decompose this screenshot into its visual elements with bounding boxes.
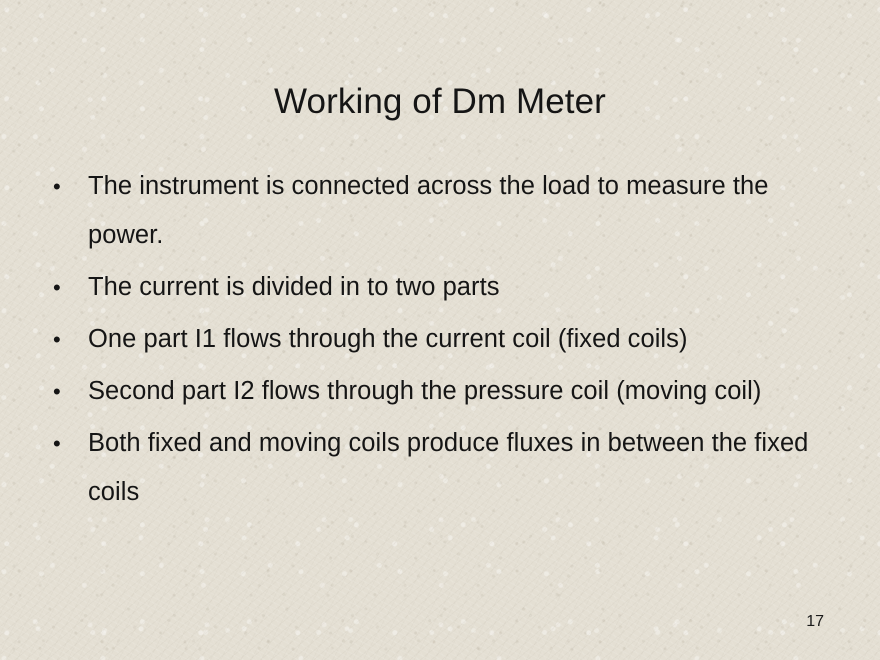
- list-item-text: The instrument is connected across the l…: [88, 162, 836, 260]
- list-item: • Both fixed and moving coils produce fl…: [46, 419, 836, 517]
- list-item: • Second part I2 flows through the press…: [46, 367, 836, 416]
- slide-content: Working of Dm Meter • The instrument is …: [0, 0, 880, 660]
- page-title: Working of Dm Meter: [0, 81, 880, 123]
- bullet-dot-icon: •: [53, 419, 63, 468]
- list-item: • One part I1 flows through the current …: [46, 315, 836, 364]
- list-item-text: The current is divided in to two parts: [88, 263, 836, 312]
- list-item: • The current is divided in to two parts: [46, 263, 836, 312]
- bullet-dot-icon: •: [53, 263, 63, 312]
- list-item-text: One part I1 flows through the current co…: [88, 315, 836, 364]
- bullet-dot-icon: •: [53, 162, 63, 211]
- bullet-dot-icon: •: [53, 367, 63, 416]
- presentation-slide: Working of Dm Meter • The instrument is …: [0, 0, 880, 660]
- list-item: • The instrument is connected across the…: [46, 162, 836, 260]
- list-item-text: Second part I2 flows through the pressur…: [88, 367, 836, 416]
- bullet-dot-icon: •: [53, 315, 63, 364]
- bullet-list: • The instrument is connected across the…: [46, 162, 836, 520]
- page-number: 17: [806, 612, 824, 632]
- list-item-text: Both fixed and moving coils produce flux…: [88, 419, 836, 517]
